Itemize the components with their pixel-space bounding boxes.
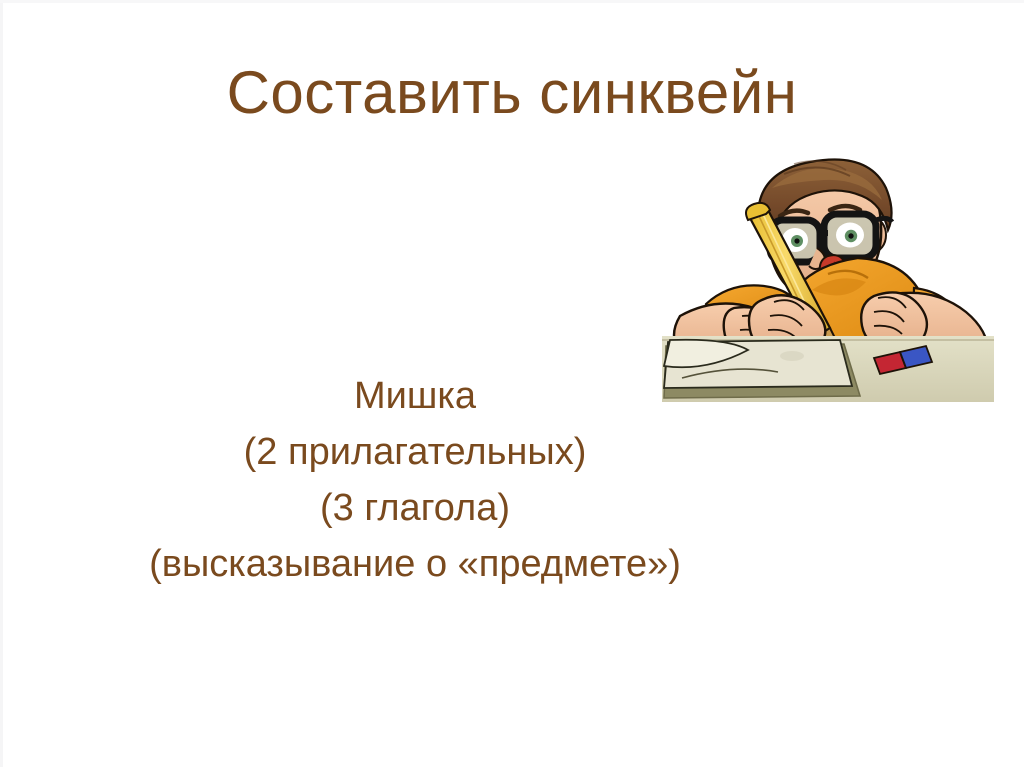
slide-top-edge: [0, 0, 1024, 3]
slide-title: Составить синквейн: [0, 58, 1024, 127]
boy-writing-at-desk-illustration: [662, 140, 994, 402]
illustration-artwork: [662, 159, 994, 402]
cinquain-line-2: (2 прилагательных): [0, 424, 830, 480]
cinquain-line-3: (3 глагола): [0, 480, 830, 536]
presentation-slide: Составить синквейн: [0, 0, 1024, 767]
cinquain-line-1: Мишка: [0, 368, 830, 424]
cinquain-instruction-block: Мишка (2 прилагательных) (3 глагола) (вы…: [0, 368, 830, 592]
cinquain-line-4: (высказывание о «предмете»): [0, 536, 830, 592]
